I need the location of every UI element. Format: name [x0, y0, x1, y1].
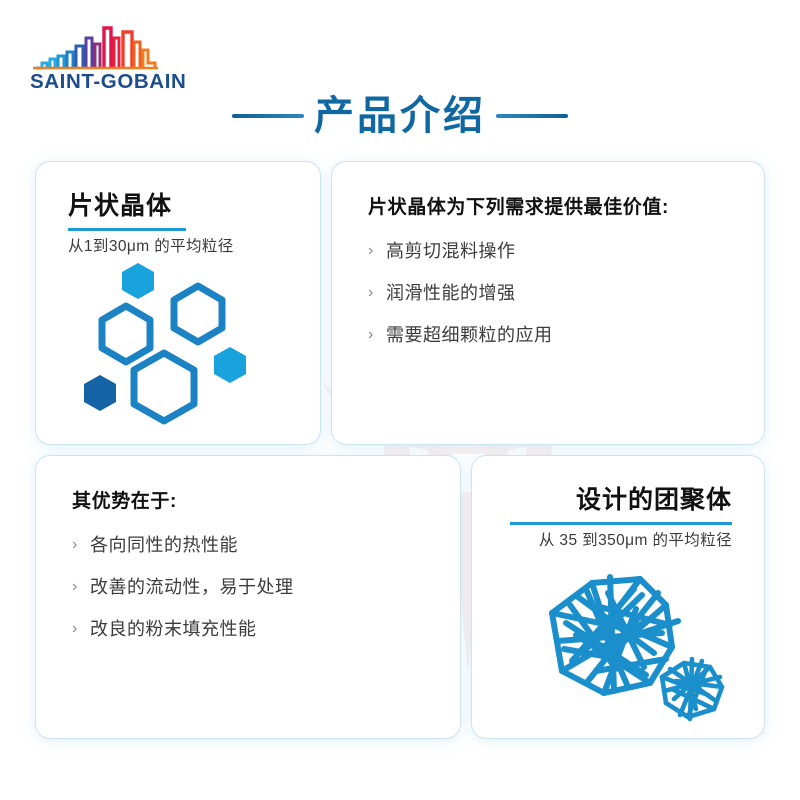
chevron-right-icon: ›: [368, 240, 386, 262]
platelet-title: 片状晶体: [68, 192, 320, 221]
agglomerate-header: 设计的团聚体 从 35 到350μm 的平均粒径: [472, 456, 764, 551]
platelet-header: 片状晶体 从1到30μm 的平均粒径: [36, 162, 320, 257]
list-item: › 高剪切混料操作: [368, 240, 734, 263]
list-item-label: 需要超细颗粒的应用: [386, 324, 553, 347]
benefits-content: 片状晶体为下列需求提供最佳价值: › 高剪切混料操作 › 润滑性能的增强 › 需…: [332, 162, 764, 348]
chevron-right-icon: ›: [368, 282, 386, 304]
advantages-list: › 各向同性的热性能 › 改善的流动性，易于处理 › 改良的粉末填充性能: [72, 534, 430, 642]
chevron-right-icon: ›: [368, 324, 386, 346]
chevron-right-icon: ›: [72, 534, 90, 556]
list-item: › 各向同性的热性能: [72, 534, 430, 557]
list-item: › 需要超细颗粒的应用: [368, 324, 734, 347]
list-item: › 改善的流动性，易于处理: [72, 576, 430, 599]
saint-gobain-logo: SAINT-GOBAIN: [30, 22, 195, 94]
agglomerate-subtitle: 从 35 到350μm 的平均粒径: [472, 531, 732, 551]
card-platelet-crystal: 片状晶体 从1到30μm 的平均粒径: [36, 162, 320, 444]
hexagon-crystals-illustration: [54, 258, 306, 438]
list-item: › 改良的粉末填充性能: [72, 618, 430, 641]
product-introduction-page: SAINT-GOBAIN 产品介绍 片状晶体 从1到30μm 的平均粒径: [0, 0, 800, 800]
page-title: 产品介绍: [0, 88, 800, 144]
platelet-subtitle: 从1到30μm 的平均粒径: [68, 237, 320, 257]
list-item-label: 高剪切混料操作: [386, 240, 516, 263]
benefits-heading: 片状晶体为下列需求提供最佳价值:: [368, 196, 734, 221]
card-agglomerate: 设计的团聚体 从 35 到350μm 的平均粒径: [472, 456, 764, 738]
title-rule-right: [496, 114, 568, 118]
chevron-right-icon: ›: [72, 618, 90, 640]
list-item: › 润滑性能的增强: [368, 282, 734, 305]
card-benefits: 片状晶体为下列需求提供最佳价值: › 高剪切混料操作 › 润滑性能的增强 › 需…: [332, 162, 764, 444]
list-item-label: 改良的粉末填充性能: [90, 618, 257, 641]
benefits-list: › 高剪切混料操作 › 润滑性能的增强 › 需要超细颗粒的应用: [368, 240, 734, 348]
title-rule-left: [232, 114, 304, 118]
card-advantages: 其优势在于: › 各向同性的热性能 › 改善的流动性，易于处理 › 改良的粉末填…: [36, 456, 460, 738]
list-item-label: 各向同性的热性能: [90, 534, 238, 557]
advantages-content: 其优势在于: › 各向同性的热性能 › 改善的流动性，易于处理 › 改良的粉末填…: [36, 456, 460, 642]
page-title-text: 产品介绍: [314, 96, 486, 136]
list-item-label: 润滑性能的增强: [386, 282, 516, 305]
chevron-right-icon: ›: [72, 576, 90, 598]
agglomerate-cluster-illustration: [500, 549, 750, 724]
platelet-title-underline: [68, 228, 186, 231]
advantages-heading: 其优势在于:: [72, 490, 430, 515]
list-item-label: 改善的流动性，易于处理: [90, 576, 294, 599]
agglomerate-title-underline: [510, 522, 732, 525]
agglomerate-title: 设计的团聚体: [472, 486, 732, 515]
skyline-logo-icon: [33, 28, 158, 68]
